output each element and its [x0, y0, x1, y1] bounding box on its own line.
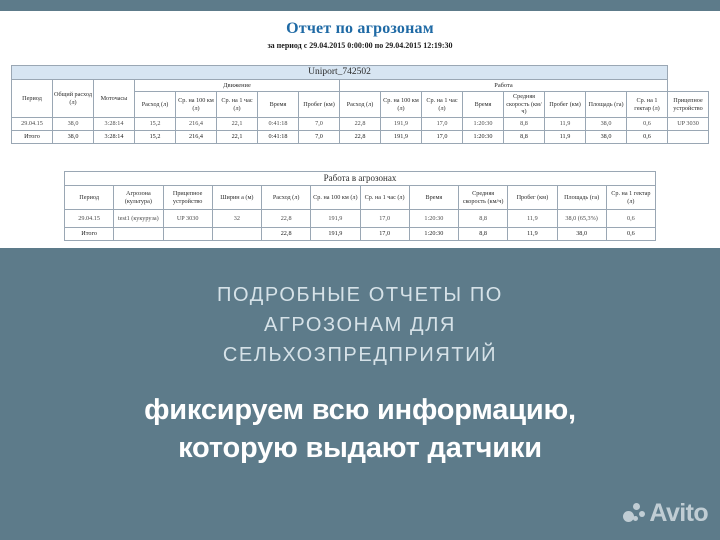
zheader-width: Ширин а (м) — [212, 186, 261, 210]
total-work-consumption: 22,8 — [340, 131, 381, 144]
header-period: Период — [12, 80, 53, 118]
total-label: Итого — [12, 131, 53, 144]
total-move-consumption: 15,2 — [135, 131, 176, 144]
ztotal-label: Итого — [65, 228, 114, 241]
total-move-per100km: 216,4 — [176, 131, 217, 144]
total-work-perhour: 17,0 — [422, 131, 463, 144]
total-move-perhour: 22,1 — [217, 131, 258, 144]
header-move-time: Время — [258, 92, 299, 118]
zcell-perhour: 17,0 — [360, 210, 409, 228]
ztotal-time: 1:20:30 — [409, 228, 458, 241]
zcell-area: 38,0 (65,3%) — [557, 210, 606, 228]
main-table-band-title: Uniport_742502 — [12, 66, 668, 80]
table-row-total: Итого 38,0 3:28:14 15,2 216,4 22,1 0:41:… — [12, 131, 709, 144]
ztotal-perhour: 17,0 — [360, 228, 409, 241]
agrozone-column-header-row: Период Агрозона (культура) Прицепное уст… — [65, 186, 656, 210]
zheader-implement: Прицепное устройство — [163, 186, 212, 210]
total-work-area: 38,0 — [586, 131, 627, 144]
ztotal-perhectare: 0,6 — [606, 228, 655, 241]
zheader-avgspeed: Средняя скорость (км/ч) — [459, 186, 508, 210]
header-work-distance: Пробег (км) — [545, 92, 586, 118]
header-move-perhour: Ср. на 1 час (л) — [217, 92, 258, 118]
header-engine-hours: Моточасы — [94, 80, 135, 118]
zcell-consumption: 22,8 — [262, 210, 311, 228]
header-work-per100km: Ср. на 100 км (л) — [381, 92, 422, 118]
cell-period: 29.04.15 — [12, 118, 53, 131]
zcell-implement: UP 3030 — [163, 210, 212, 228]
ztotal-width — [212, 228, 261, 241]
banner-headline-line-2: которую выдают датчики — [0, 429, 720, 467]
zcell-perhectare: 0,6 — [606, 210, 655, 228]
report-period-subtitle: за период с 29.04.2015 0:00:00 по 29.04.… — [0, 40, 720, 51]
ztotal-implement — [163, 228, 212, 241]
group-header-work: Работа — [340, 80, 668, 92]
cell-work-avgspeed: 8,8 — [504, 118, 545, 131]
screenshot-page: Отчет по агрозонам за период с 29.04.201… — [0, 0, 720, 540]
main-report-table-container: Uniport_742502 Период Общий расход (л) М… — [11, 65, 709, 144]
header-total-consumption: Общий расход (л) — [53, 80, 94, 118]
banner-subtitle-line-3: СЕЛЬХОЗПРЕДПРИЯТИЙ — [0, 340, 720, 370]
header-implement: Прицепное устройство — [668, 92, 709, 118]
cell-implement: UP 3030 — [668, 118, 709, 131]
cell-move-per100km: 216,4 — [176, 118, 217, 131]
agrozone-table-container: Работа в агрозонах Период Агрозона (куль… — [64, 171, 656, 241]
banner-subtitle-line-2: АГРОЗОНАМ ДЛЯ — [0, 310, 720, 340]
cell-work-area: 38,0 — [586, 118, 627, 131]
agrozone-table: Работа в агрозонах Период Агрозона (куль… — [64, 171, 656, 241]
total-engine-hours: 3:28:14 — [94, 131, 135, 144]
report-title: Отчет по агрозонам — [0, 19, 720, 38]
report-document: Отчет по агрозонам за период с 29.04.201… — [0, 11, 720, 248]
total-work-perhectare: 0,6 — [627, 131, 668, 144]
header-move-consumption: Расход (л) — [135, 92, 176, 118]
zheader-per100km: Ср. на 100 км (л) — [311, 186, 360, 210]
cell-work-per100km: 191,9 — [381, 118, 422, 131]
zheader-perhectare: Ср. на 1 гектар (л) — [606, 186, 655, 210]
cell-move-distance: 7,0 — [299, 118, 340, 131]
banner-subtitle-line-1: ПОДРОБНЫЕ ОТЧЕТЫ ПО — [0, 280, 720, 310]
main-report-table: Uniport_742502 Период Общий расход (л) М… — [11, 65, 709, 144]
zheader-distance: Пробег (км) — [508, 186, 557, 210]
zheader-consumption: Расход (л) — [262, 186, 311, 210]
header-work-area: Площадь (га) — [586, 92, 627, 118]
table-row-total: Итого 22,8 191,9 17,0 1:20:30 8,8 11,9 3… — [65, 228, 656, 241]
header-move-distance: Пробег (км) — [299, 92, 340, 118]
agrozone-band-title: Работа в агрозонах — [65, 172, 656, 186]
cell-work-time: 1:20:30 — [463, 118, 504, 131]
total-move-distance: 7,0 — [299, 131, 340, 144]
main-table-group-header-row: Период Общий расход (л) Моточасы Движени… — [12, 80, 709, 92]
header-work-avgspeed: Средняя скорость (км/ч) — [504, 92, 545, 118]
banner-headline-line-1: фиксируем всю информацию, — [0, 391, 720, 429]
zheader-time: Время — [409, 186, 458, 210]
cell-work-perhectare: 0,6 — [627, 118, 668, 131]
cell-move-consumption: 15,2 — [135, 118, 176, 131]
cell-total-consumption: 38,0 — [53, 118, 94, 131]
ztotal-consumption: 22,8 — [262, 228, 311, 241]
avito-wordmark: Avito — [649, 501, 708, 526]
banner-subtitle: ПОДРОБНЫЕ ОТЧЕТЫ ПО АГРОЗОНАМ ДЛЯ СЕЛЬХО… — [0, 280, 720, 370]
ztotal-per100km: 191,9 — [311, 228, 360, 241]
header-work-perhectare: Ср. на 1 гектар (л) — [627, 92, 668, 118]
total-total-consumption: 38,0 — [53, 131, 94, 144]
table-row: 29.04.15 test1 (кукуруза) UP 3030 32 22,… — [65, 210, 656, 228]
zcell-per100km: 191,9 — [311, 210, 360, 228]
zheader-period: Период — [65, 186, 114, 210]
total-work-time: 1:20:30 — [463, 131, 504, 144]
zheader-area: Площадь (га) — [557, 186, 606, 210]
total-move-time: 0:41:18 — [258, 131, 299, 144]
cell-work-perhour: 17,0 — [422, 118, 463, 131]
zcell-period: 29.04.15 — [65, 210, 114, 228]
ztotal-area: 38,0 — [557, 228, 606, 241]
total-work-avgspeed: 8,8 — [504, 131, 545, 144]
avito-watermark: Avito — [623, 501, 708, 526]
total-work-per100km: 191,9 — [381, 131, 422, 144]
cell-engine-hours: 3:28:14 — [94, 118, 135, 131]
cell-work-consumption: 22,8 — [340, 118, 381, 131]
avito-logo-icon — [623, 503, 646, 524]
ztotal-avgspeed: 8,8 — [459, 228, 508, 241]
zheader-perhour: Ср. на 1 час (л) — [360, 186, 409, 210]
header-work-consumption: Расход (л) — [340, 92, 381, 118]
total-implement — [668, 131, 709, 144]
header-work-time: Время — [463, 92, 504, 118]
zcell-width: 32 — [212, 210, 261, 228]
zheader-agrozone: Агрозона (культура) — [114, 186, 163, 210]
zcell-avgspeed: 8,8 — [459, 210, 508, 228]
zcell-distance: 11,9 — [508, 210, 557, 228]
group-header-movement: Движение — [135, 80, 340, 92]
header-work-perhour: Ср. на 1 час (л) — [422, 92, 463, 118]
top-accent-strip — [0, 0, 720, 11]
zcell-agrozone: test1 (кукуруза) — [114, 210, 163, 228]
zcell-time: 1:20:30 — [409, 210, 458, 228]
header-move-per100km: Ср. на 100 км (л) — [176, 92, 217, 118]
main-table-band-row: Uniport_742502 — [12, 66, 709, 80]
cell-work-distance: 11,9 — [545, 118, 586, 131]
agrozone-band-row: Работа в агрозонах — [65, 172, 656, 186]
cell-move-time: 0:41:18 — [258, 118, 299, 131]
total-work-distance: 11,9 — [545, 131, 586, 144]
ztotal-distance: 11,9 — [508, 228, 557, 241]
cell-move-perhour: 22,1 — [217, 118, 258, 131]
table-row: 29.04.15 38,0 3:28:14 15,2 216,4 22,1 0:… — [12, 118, 709, 131]
banner-headline: фиксируем всю информацию, которую выдают… — [0, 391, 720, 467]
promo-banner: ПОДРОБНЫЕ ОТЧЕТЫ ПО АГРОЗОНАМ ДЛЯ СЕЛЬХО… — [0, 248, 720, 540]
ztotal-agrozone — [114, 228, 163, 241]
